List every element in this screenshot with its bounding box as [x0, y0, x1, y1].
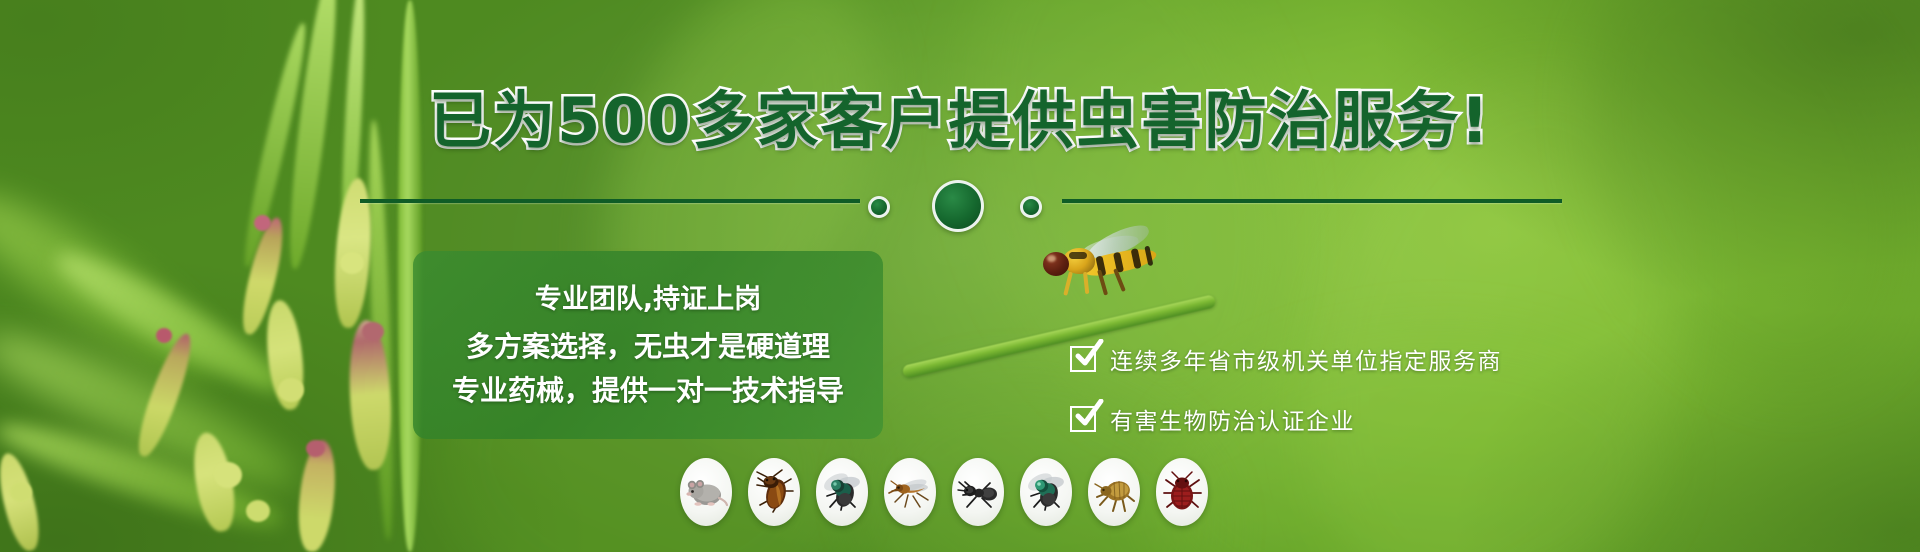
pest-type-icon-row [680, 458, 1208, 526]
page-title-text: 已为500多家客户提供虫害防治服务! [429, 84, 1491, 157]
bedbug-icon [1159, 469, 1205, 515]
ant-icon [955, 469, 1001, 515]
divider-right [1062, 199, 1562, 203]
pest-icon-bedbug[interactable] [1156, 458, 1208, 526]
pest-icon-fly[interactable] [816, 458, 868, 526]
divider-dot-group [862, 162, 1058, 242]
certification-item: 连续多年省市级机关单位指定服务商 [1070, 335, 1630, 383]
fly-icon [819, 469, 865, 515]
check-mark-icon [1070, 346, 1096, 372]
certification-list: 连续多年省市级机关单位指定服务商 有害生物防治认证企业 [1070, 335, 1630, 455]
certification-label: 有害生物防治认证企业 [1110, 402, 1355, 436]
cockroach-icon [751, 469, 797, 515]
pest-icon-mosquito[interactable] [884, 458, 936, 526]
mosquito-icon [887, 469, 933, 515]
selling-point-3: 专业药械，提供一对一技术指导 [452, 376, 844, 405]
check-mark-icon [1070, 406, 1096, 432]
pest-icon-cockroach[interactable] [748, 458, 800, 526]
pest-icon-mouse[interactable] [680, 458, 732, 526]
selling-points-panel: 专业团队,持证上岗 多方案选择，无虫才是硬道理 专业药械，提供一对一技术指导 [413, 251, 883, 439]
pest-icon-ant[interactable] [952, 458, 1004, 526]
dot-large-center [932, 180, 984, 232]
divider-left [360, 199, 860, 203]
pest-icon-blowfly[interactable] [1020, 458, 1072, 526]
certification-item: 有害生物防治认证企业 [1070, 395, 1630, 443]
selling-point-1: 专业团队,持证上岗 [535, 286, 761, 314]
dot-small-right [1020, 196, 1042, 218]
page-title: 已为500多家客户提供虫害防治服务! [0, 70, 1920, 160]
selling-point-2: 多方案选择，无虫才是硬道理 [466, 332, 830, 361]
pest-icon-flea[interactable] [1088, 458, 1140, 526]
mouse-icon [683, 469, 729, 515]
hoverfly-eye-highlight [1047, 255, 1056, 262]
hoverfly-illustration [1005, 232, 1195, 342]
pest-control-hero-banner: 已为500多家客户提供虫害防治服务! 专业团队,持证上岗 多方案选择，无虫才是硬… [0, 0, 1920, 552]
certification-label: 连续多年省市级机关单位指定服务商 [1110, 342, 1502, 376]
blowfly-icon [1023, 469, 1069, 515]
dot-small-left [868, 196, 890, 218]
flea-icon [1091, 469, 1137, 515]
hoverfly-body [1039, 236, 1159, 298]
